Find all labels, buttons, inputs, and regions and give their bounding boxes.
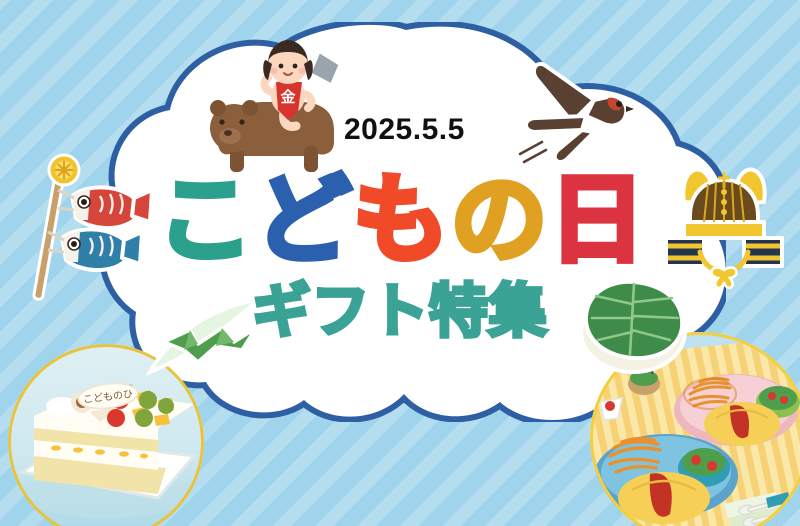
sub-title: ギフト特集 [160,282,640,340]
date-label: 2025.5.5 [344,113,465,147]
title-char-ko: こ [157,172,251,268]
main-title: こ ど も の 日 [160,172,640,268]
svg-text:金: 金 [280,88,296,106]
koinobori-carp-streamers-icon [28,150,158,302]
title-char-no: の [451,172,545,268]
title-char-mo: も [353,172,447,268]
title-char-hi: 日 [549,172,643,268]
kodomo-no-hi-banner: 2025.5.5 こ ど も の 日 ギフト特集 [0,0,800,526]
kintaro-riding-bear-icon: 金 [196,38,344,178]
title-char-do: ど [255,172,349,268]
swallow-bird-icon [516,62,636,167]
